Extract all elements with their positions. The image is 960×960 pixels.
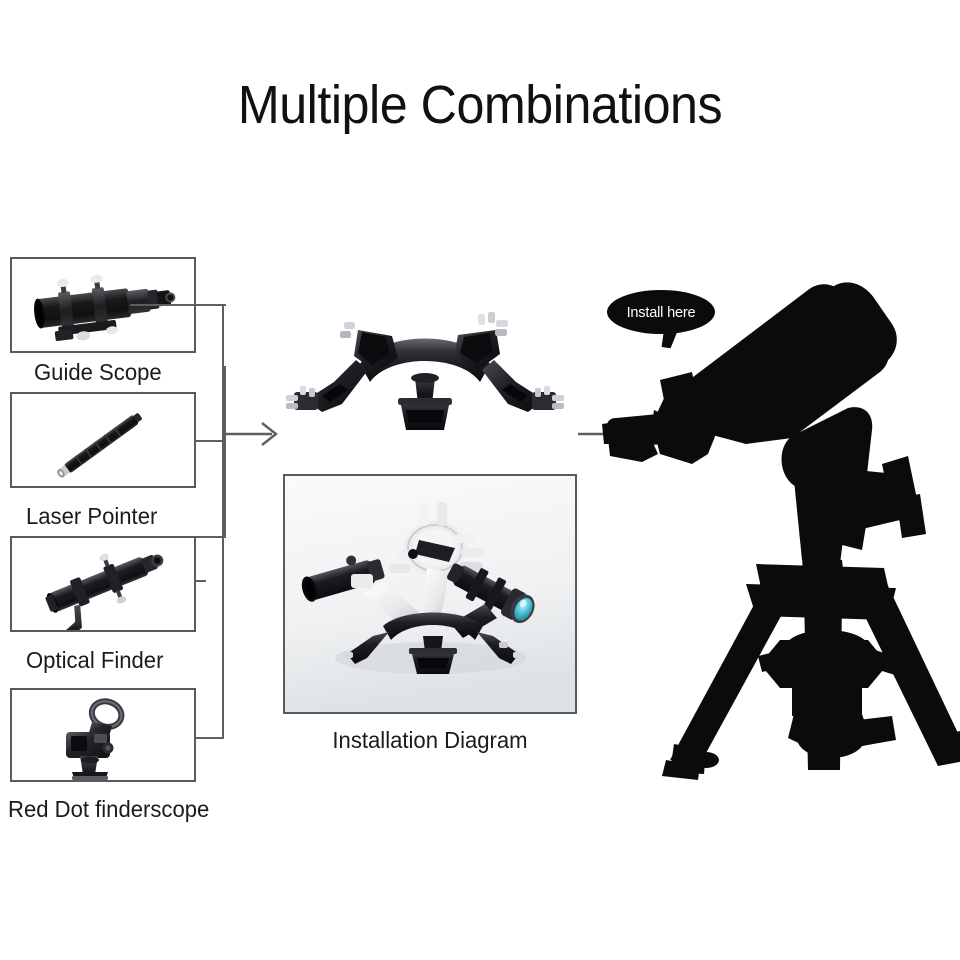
installation-diagram-label: Installation Diagram — [289, 726, 571, 754]
accessory-label-guide-scope: Guide Scope — [34, 359, 162, 386]
accessory-label-red-dot-finderscope: Red Dot finderscope — [8, 796, 209, 823]
lead-line-optical-finder — [196, 580, 206, 582]
accessory-label-laser-pointer: Laser Pointer — [26, 503, 157, 530]
laser-pointer-icon — [12, 394, 194, 486]
quad-mount-bracket-icon — [282, 308, 568, 440]
lead-line-laser-pointer — [196, 440, 224, 442]
accessory-box-laser-pointer — [10, 392, 196, 488]
install-here-callout: Install here — [607, 290, 715, 334]
bus-bar — [224, 366, 226, 538]
telescope-silhouette-icon — [596, 268, 960, 788]
poster-canvas: Multiple Combinations — [0, 0, 960, 960]
accessory-box-red-dot-finderscope — [10, 688, 196, 782]
optical-finder-icon — [12, 538, 194, 630]
installation-photo-icon — [283, 474, 577, 714]
collector-spine-inner — [224, 304, 226, 306]
accessory-label-optical-finder: Optical Finder — [26, 647, 163, 674]
arrow-right-icon-to-bracket — [224, 420, 284, 448]
page-title: Multiple Combinations — [34, 74, 927, 136]
callout-text: Install here — [609, 290, 714, 334]
lead-line-guide-scope — [130, 304, 224, 306]
red-dot-finderscope-icon — [12, 690, 194, 780]
accessory-box-optical-finder — [10, 536, 196, 632]
lead-line-red-dot-finderscope — [196, 737, 224, 739]
bus-bar-to-box3 — [196, 536, 226, 538]
